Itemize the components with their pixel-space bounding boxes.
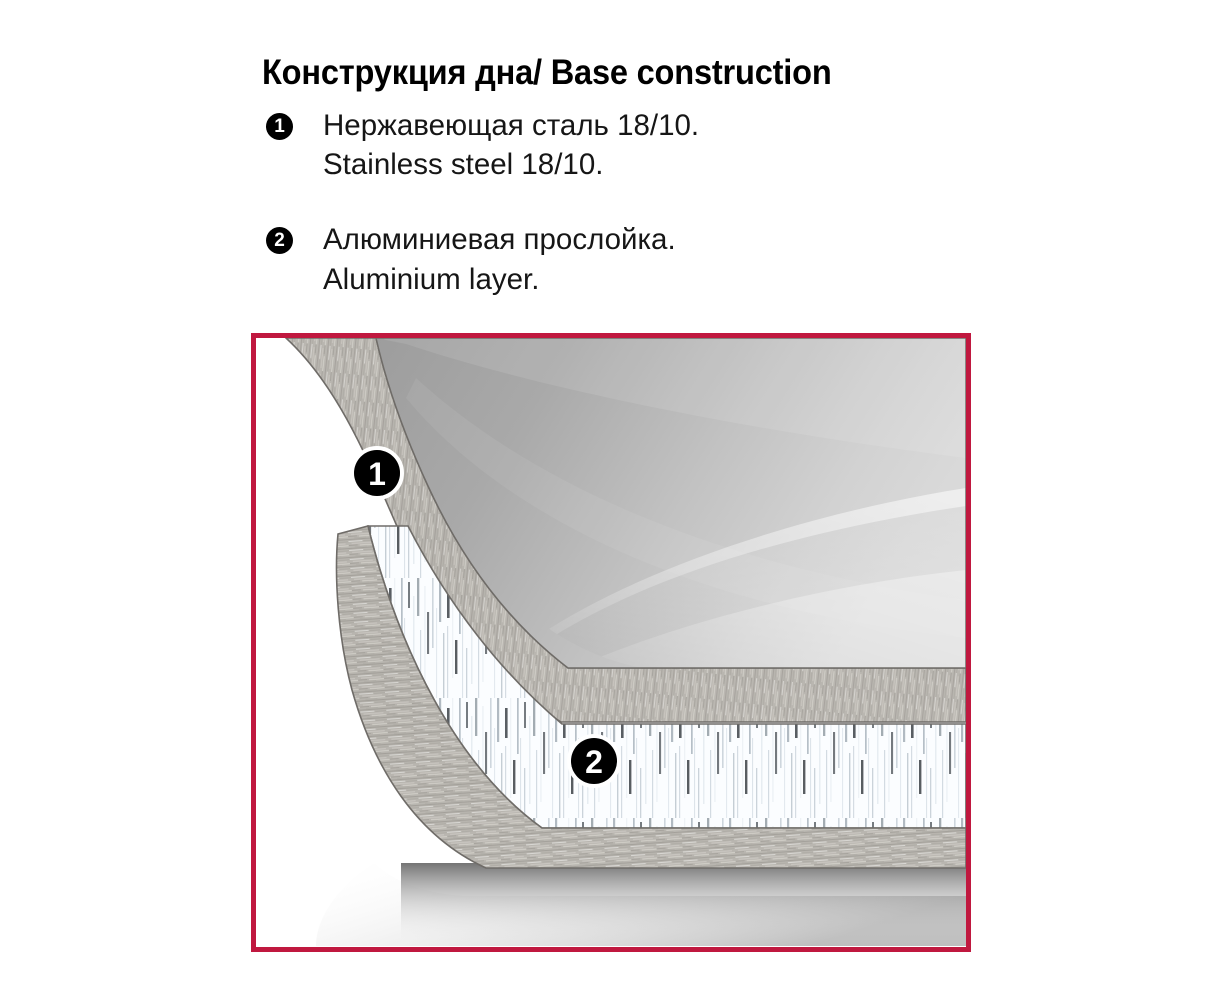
callout-badge-2[interactable]: 2 xyxy=(569,736,619,786)
legend-badge-1: 1 xyxy=(266,113,293,140)
legend-item-1: 1 Нержавеющая сталь 18/10. Stainless ste… xyxy=(266,106,966,184)
legend-item-2: 2 Алюминиевая прослойка. Aluminium layer… xyxy=(266,220,966,298)
legend-text-2: Алюминиевая прослойка. Aluminium layer. xyxy=(266,220,966,298)
cross-section-illustration: 1 2 xyxy=(256,338,966,947)
legend-line-en-1: Stainless steel 18/10. xyxy=(323,145,966,184)
legend-line-en-2: Aluminium layer. xyxy=(323,260,966,299)
base-construction-diagram: 1 2 xyxy=(251,333,971,952)
callout-badge-1[interactable]: 1 xyxy=(352,448,402,498)
legend-line-ru-2: Алюминиевая прослойка. xyxy=(323,220,966,259)
legend-list: 1 Нержавеющая сталь 18/10. Stainless ste… xyxy=(266,106,966,317)
base-shadow xyxy=(316,863,966,947)
page-root: Конструкция дна/ Base construction 1 Нер… xyxy=(0,0,1223,1000)
callout-badge-1-label: 1 xyxy=(368,456,386,492)
legend-text-1: Нержавеющая сталь 18/10. Stainless steel… xyxy=(266,106,966,184)
legend-line-ru-1: Нержавеющая сталь 18/10. xyxy=(323,106,966,145)
page-title: Конструкция дна/ Base construction xyxy=(262,53,832,93)
callout-badge-2-label: 2 xyxy=(585,744,603,780)
